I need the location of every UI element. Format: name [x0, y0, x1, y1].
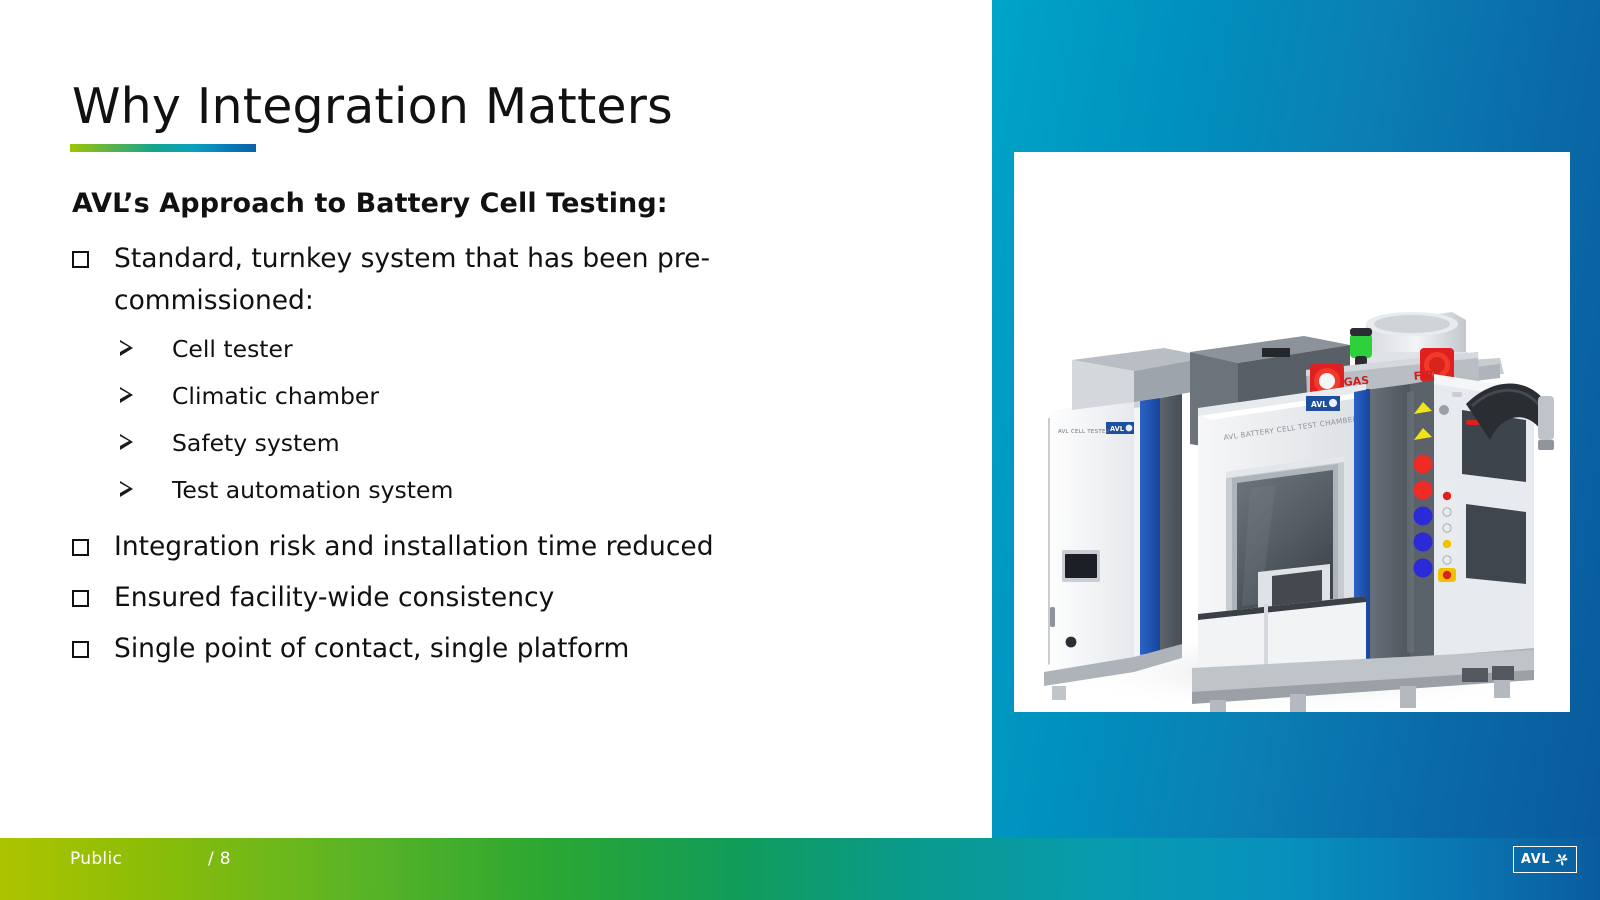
arrow-icon [120, 420, 172, 467]
pinwheel-icon [1554, 852, 1569, 867]
bullet-text: Single point of contact, single platform [114, 628, 862, 670]
page-number: / 8 [208, 849, 231, 869]
battery-cell-test-system-illustration: AVL AVL CELL TESTER [1014, 152, 1570, 712]
arrow-icon [120, 326, 172, 373]
svg-text:AVL CELL TESTER: AVL CELL TESTER [1058, 429, 1110, 435]
bullet-text: Integration risk and installation time r… [114, 526, 862, 568]
bullet-item: Standard, turnkey system that has been p… [72, 238, 862, 322]
battery-cell-test-chamber: AVL BATTERY CELL TEST CHAMBER AVL [1198, 384, 1410, 692]
avl-logo-text: AVL [1521, 853, 1550, 866]
sub-bullet-item: Test automation system [72, 467, 862, 514]
section-heading: AVL’s Approach to Battery Cell Testing: [72, 188, 668, 219]
avl-logo: AVL [1513, 846, 1577, 873]
page-title: Why Integration Matters [72, 78, 673, 135]
product-photo: AVL AVL CELL TESTER [1014, 152, 1570, 712]
sub-bullet-text: Safety system [172, 420, 862, 467]
arrow-icon [120, 467, 172, 514]
arrow-icon [120, 373, 172, 420]
svg-text:AVL: AVL [1110, 425, 1125, 433]
hollow-square-icon [72, 238, 114, 280]
footer-bar [0, 838, 1600, 900]
sub-bullet-text: Climatic chamber [172, 373, 862, 420]
sub-bullet-text: Test automation system [172, 467, 862, 514]
bullet-item: Integration risk and installation time r… [72, 526, 862, 568]
bullet-text: Ensured facility-wide consistency [114, 577, 862, 619]
hollow-square-icon [72, 577, 114, 619]
product-photo-card: AVL AVL CELL TESTER [1014, 152, 1570, 712]
svg-text:AVL: AVL [1311, 400, 1327, 409]
sub-bullet-item: Climatic chamber [72, 373, 862, 420]
bullet-list: Standard, turnkey system that has been p… [72, 238, 862, 674]
status-lamp-column [1407, 380, 1434, 660]
bullet-text: Standard, turnkey system that has been p… [114, 238, 862, 322]
sub-bullet-text: Cell tester [172, 326, 862, 373]
bullet-item: Ensured facility-wide consistency [72, 577, 862, 619]
title-accent-rule [70, 144, 256, 152]
hollow-square-icon [72, 526, 114, 568]
sub-bullet-item: Cell tester [72, 326, 862, 373]
hollow-square-icon [72, 628, 114, 670]
bullet-item: Single point of contact, single platform [72, 628, 862, 670]
slide-root: AVL AVL CELL TESTER [0, 0, 1600, 900]
classification-label: Public [70, 849, 122, 869]
white-gutter [970, 0, 992, 838]
sub-bullet-item: Safety system [72, 420, 862, 467]
